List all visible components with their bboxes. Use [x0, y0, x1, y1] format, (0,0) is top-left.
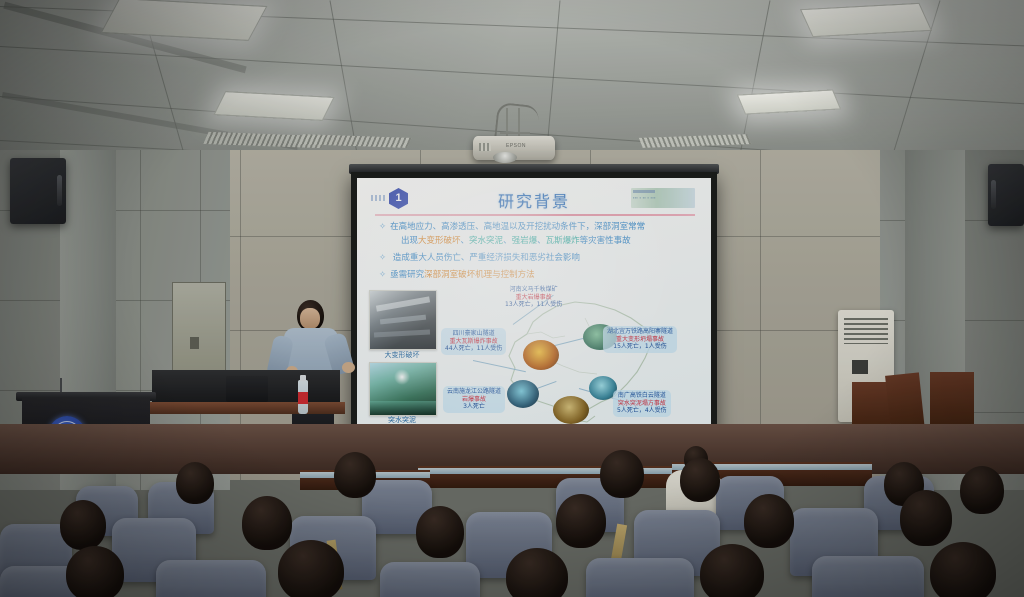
presentation-slide: 1 研究背景 ▪▪▪ ▪ ▪▪ ▪ ▪▪▪ ✧在高地应力、高渗透压、高地温以及开… — [357, 178, 711, 447]
wooden-chair — [930, 372, 974, 428]
bullet-item-continued: 出现大变形破坏、突水突泥、强岩爆、瓦斯爆炸等灾害性事故 — [379, 234, 703, 248]
bullet-item: ✧在高地应力、高渗透压、高地温以及开挖扰动条件下，深部洞室常常 — [379, 220, 703, 234]
audience-head — [416, 506, 464, 558]
audience-seat — [380, 562, 480, 597]
presenter-right-hand — [342, 362, 355, 373]
audience-seat — [812, 556, 924, 597]
bullet-text: 、 — [503, 236, 512, 246]
bullet-highlight: 瓦斯爆炸 — [546, 236, 580, 246]
incident-thumbnail — [523, 340, 559, 370]
callout-yunnan-tunnel: 云南施龙江公路隧道 岩爆事故 3人死亡 — [443, 386, 505, 413]
audience-head — [960, 466, 1004, 514]
audience-head — [60, 500, 106, 550]
bullet-text: 造成重大人员伤亡、严重经济损失和恶劣社会影响 — [393, 253, 580, 263]
right-wall-speaker — [988, 164, 1024, 226]
slide-logo: ▪▪▪ ▪ ▪▪ ▪ ▪▪▪ — [631, 188, 695, 208]
projection-screen-frame: 1 研究背景 ▪▪▪ ▪ ▪▪ ▪ ▪▪▪ ✧在高地应力、高渗透压、高地温以及开… — [351, 172, 717, 453]
water-bottle — [298, 380, 308, 414]
callout-henan-yima: 河南义马千秋煤矿 重大岩爆事故 13人死亡，11人受伤 — [505, 286, 562, 309]
callout-line1: 云南施龙江公路隧道 — [447, 388, 501, 396]
projection-screen: 1 研究背景 ▪▪▪ ▪ ▪▪ ▪ ▪▪▪ ✧在高地应力、高渗透压、高地温以及开… — [357, 178, 711, 447]
bullet-text: 出现 — [401, 236, 418, 246]
photo-caption: 大变形破坏 — [370, 350, 434, 360]
callout-hubei-yiwan: 湖北宜万铁路高阳寨隧道 重大变形坍塌事故 15人死亡，1人受伤 — [603, 326, 677, 353]
audience-head — [66, 546, 124, 597]
ceiling-projector: EPSON — [473, 136, 555, 160]
callout-line1: 南广高铁白云隧道 — [617, 392, 667, 400]
callout-line1: 河南义马千秋煤矿 — [505, 286, 562, 294]
lecture-hall-photo: EPSON 1 研究背景 ▪▪▪ ▪ ▪▪ ▪ ▪▪▪ — [0, 0, 1024, 597]
bullet-highlight: 深部洞室破坏机理与控制方法 — [424, 270, 535, 280]
audience-seat — [586, 558, 694, 597]
audience-head — [176, 462, 214, 504]
audience-head — [334, 452, 376, 498]
bullet-item: ✧ 造成重大人员伤亡、严重经济损失和恶劣社会影响 — [379, 251, 703, 265]
bullet-text: 等灾害性事故 — [580, 236, 631, 246]
audience-head — [700, 544, 764, 597]
bullet-highlight: 突水突泥 — [469, 236, 503, 246]
callout-line3: 3人死亡 — [447, 403, 501, 411]
presenter-desk-top — [150, 402, 345, 414]
audience-head — [600, 450, 644, 498]
slide-header: 1 研究背景 ▪▪▪ ▪ ▪▪ ▪ ▪▪▪ — [365, 184, 703, 214]
header-divider — [375, 214, 695, 216]
ac-control-panel[interactable] — [852, 360, 868, 374]
bullet-marker-icon: ✧ — [379, 270, 386, 280]
audience-head — [506, 548, 568, 597]
laptop[interactable] — [226, 376, 268, 402]
audience-head — [242, 496, 292, 550]
photo-deformation-failure — [369, 290, 437, 350]
callout-line1: 四川豪家山隧道 — [445, 330, 502, 338]
audience-seat — [156, 560, 266, 597]
projector-brand-label: EPSON — [506, 143, 526, 149]
bullet-text: 、 — [537, 236, 546, 246]
bullet-highlight: 强岩爆 — [512, 236, 538, 246]
audience-head — [680, 458, 720, 502]
callout-line3: 15人死亡，1人受伤 — [607, 343, 673, 351]
ac-vent-icon — [844, 318, 888, 344]
callout-nanguang-baiyun: 南广高铁白云隧道 突水突泥塌方事故 5人死亡，4人受伤 — [613, 390, 671, 417]
bullet-marker-icon: ✧ — [379, 222, 386, 232]
presenter-face — [300, 308, 320, 329]
audience-head — [278, 540, 344, 597]
bullet-text: 深部洞室常常 — [594, 222, 645, 232]
incident-thumbnail — [507, 380, 539, 408]
audience-head — [900, 490, 952, 546]
bottle-label — [298, 392, 308, 404]
bullet-text: 亟需研究 — [390, 270, 424, 280]
bullet-highlight: 大变形破坏 — [418, 236, 461, 246]
callout-line1: 湖北宜万铁路高阳寨隧道 — [607, 328, 673, 336]
audience-head — [930, 542, 996, 597]
audience-head — [744, 494, 794, 548]
callout-sichuan-tunnel: 四川豪家山隧道 重大瓦斯爆炸事故 44人死亡，11人受伤 — [441, 328, 506, 355]
callout-line3: 13人死亡，11人受伤 — [505, 301, 562, 309]
slide-bullet-list: ✧在高地应力、高渗透压、高地温以及开挖扰动条件下，深部洞室常常 出现大变形破坏、… — [365, 220, 703, 282]
callout-line3: 5人死亡，4人受伤 — [617, 407, 667, 415]
bullet-text: 、 — [461, 236, 470, 246]
bottle-cap — [300, 375, 306, 381]
callout-line3: 44人死亡，11人受伤 — [445, 345, 502, 353]
incident-thumbnail — [553, 396, 589, 424]
photo-water-mud-inrush — [369, 362, 437, 416]
projector-lens-icon — [493, 152, 517, 163]
left-wall-speaker — [10, 158, 66, 224]
bullet-item: ✧亟需研究深部洞室破坏机理与控制方法 — [379, 268, 703, 282]
bullet-text: 在高地应力、高渗透压、高地温以及开挖扰动条件下， — [390, 222, 594, 232]
audience-head — [556, 494, 606, 548]
bullet-marker-icon: ✧ — [379, 253, 386, 263]
cabinet-latch-icon — [190, 337, 199, 349]
slide-map-area: 大变形破坏 突水突泥 河南义马千秋煤矿 重大岩爆事故 13人死亡，11人受伤 四… — [365, 284, 703, 434]
